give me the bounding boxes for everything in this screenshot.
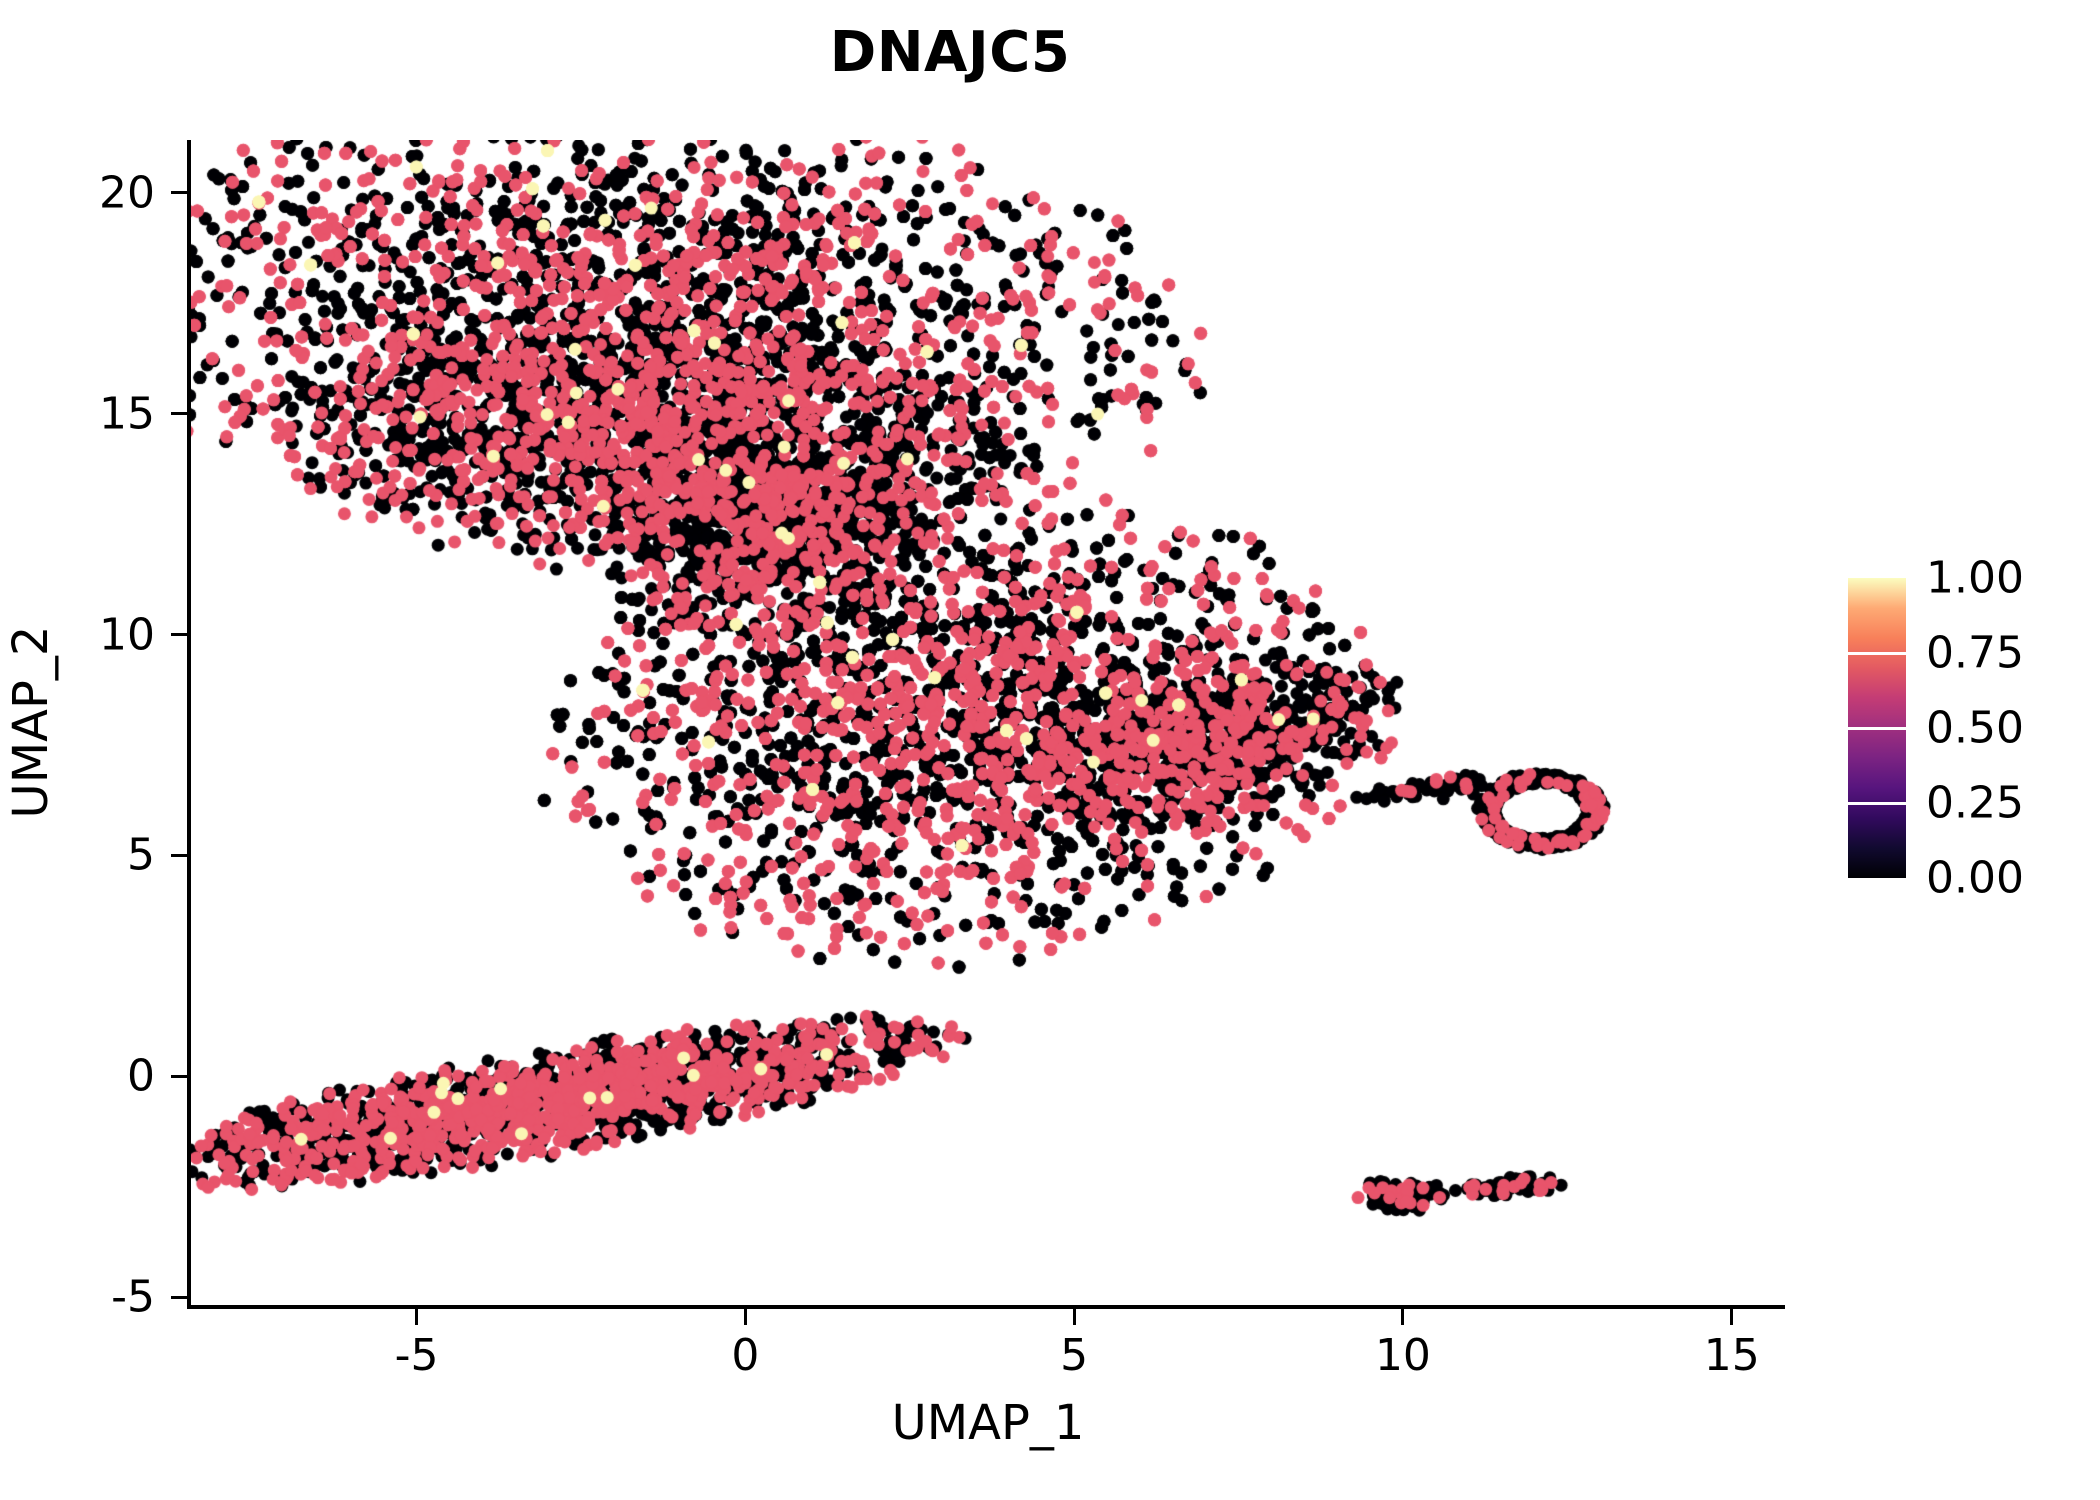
y-tick-label: 20 xyxy=(99,167,155,218)
y-axis-spine xyxy=(187,140,191,1309)
x-tick-mark xyxy=(744,1309,747,1325)
x-tick-label: 0 xyxy=(731,1330,759,1381)
x-tick-mark xyxy=(1401,1309,1404,1325)
plot-axes: -5051015 -505101520 UMAP_1 UMAP_2 xyxy=(191,140,1785,1305)
x-tick-label: 10 xyxy=(1375,1330,1431,1381)
y-tick-label: -5 xyxy=(111,1272,155,1323)
y-tick-mark xyxy=(171,412,187,415)
page-title: DNAJC5 xyxy=(0,20,1900,85)
y-tick-mark xyxy=(171,1296,187,1299)
x-tick-label: 5 xyxy=(1060,1330,1088,1381)
y-tick-label: 0 xyxy=(127,1051,155,1102)
colorbar: 1.000.750.500.250.00 xyxy=(1848,578,2078,888)
y-tick-mark xyxy=(171,191,187,194)
scatter-plot-canvas xyxy=(191,140,1785,1305)
x-axis-spine xyxy=(187,1305,1785,1309)
y-tick-mark xyxy=(171,633,187,636)
colorbar-tick-mark xyxy=(1848,802,1906,805)
y-tick-mark xyxy=(171,854,187,857)
colorbar-tick-mark xyxy=(1848,652,1906,655)
colorbar-tick-mark xyxy=(1848,727,1906,730)
x-tick-mark xyxy=(415,1309,418,1325)
x-tick-label: -5 xyxy=(395,1330,439,1381)
y-tick-label: 10 xyxy=(99,609,155,660)
colorbar-tick-label: 0.75 xyxy=(1926,628,2024,679)
y-tick-mark xyxy=(171,1075,187,1078)
x-tick-label: 15 xyxy=(1704,1330,1760,1381)
y-axis-label: UMAP_2 xyxy=(3,626,59,819)
y-tick-label: 5 xyxy=(127,830,155,881)
x-tick-mark xyxy=(1730,1309,1733,1325)
colorbar-tick-label: 1.00 xyxy=(1926,553,2024,604)
x-axis-label: UMAP_1 xyxy=(191,1395,1785,1451)
colorbar-tick-label: 0.25 xyxy=(1926,778,2024,829)
colorbar-tick-label: 0.50 xyxy=(1926,703,2024,754)
x-tick-mark xyxy=(1073,1309,1076,1325)
colorbar-tick-label: 0.00 xyxy=(1926,853,2024,904)
y-tick-label: 15 xyxy=(99,388,155,439)
umap-feature-plot: DNAJC5 -5051015 -505101520 UMAP_1 UMAP_2… xyxy=(0,0,2100,1500)
